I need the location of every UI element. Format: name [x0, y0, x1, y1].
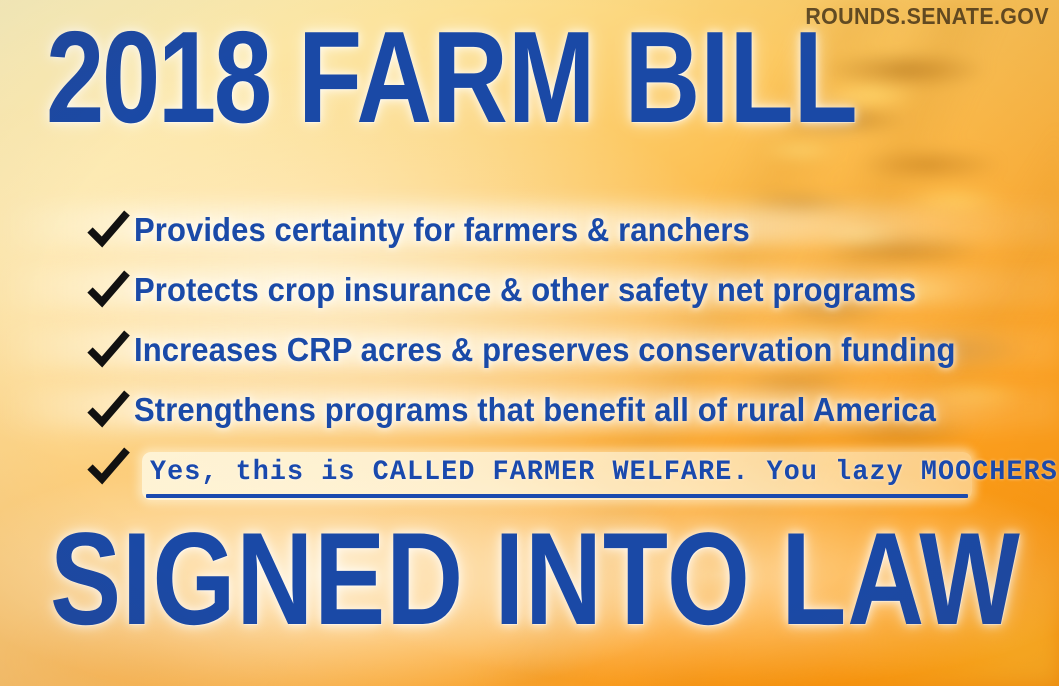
checkmark-icon	[86, 328, 130, 372]
checkmark-icon	[86, 445, 130, 489]
annotation-underline	[146, 494, 968, 498]
page-title-bottom: SIGNED INTO LAW	[50, 519, 1021, 640]
list-item-label: Increases CRP acres & preserves conserva…	[134, 331, 956, 369]
list-item: Protects crop insurance & other safety n…	[86, 260, 1036, 320]
content-layer: ROUNDS.SENATE.GOV 2018 FARM BILL Provide…	[0, 0, 1059, 686]
list-item-label: Provides certainty for farmers & rancher…	[134, 211, 750, 249]
list-item-label: Protects crop insurance & other safety n…	[134, 271, 916, 309]
list-item: Increases CRP acres & preserves conserva…	[86, 320, 1036, 380]
page-title-rest: FARM BILL	[298, 5, 858, 151]
page-title-top: 2018 FARM BILL	[46, 18, 858, 138]
farm-bill-graphic: ROUNDS.SENATE.GOV 2018 FARM BILL Provide…	[0, 0, 1059, 686]
checkmark-icon	[86, 208, 130, 252]
annotation-label: Yes, this is CALLED FARMER WELFARE. You …	[150, 457, 1059, 488]
list-item: Provides certainty for farmers & rancher…	[86, 200, 1036, 260]
checkmark-icon	[86, 268, 130, 312]
benefits-list: Provides certainty for farmers & rancher…	[86, 200, 1036, 494]
list-item: Strengthens programs that benefit all of…	[86, 380, 1036, 440]
checkmark-icon	[86, 388, 130, 432]
page-title-year: 2018	[46, 5, 270, 151]
list-item-label: Strengthens programs that benefit all of…	[134, 391, 936, 429]
